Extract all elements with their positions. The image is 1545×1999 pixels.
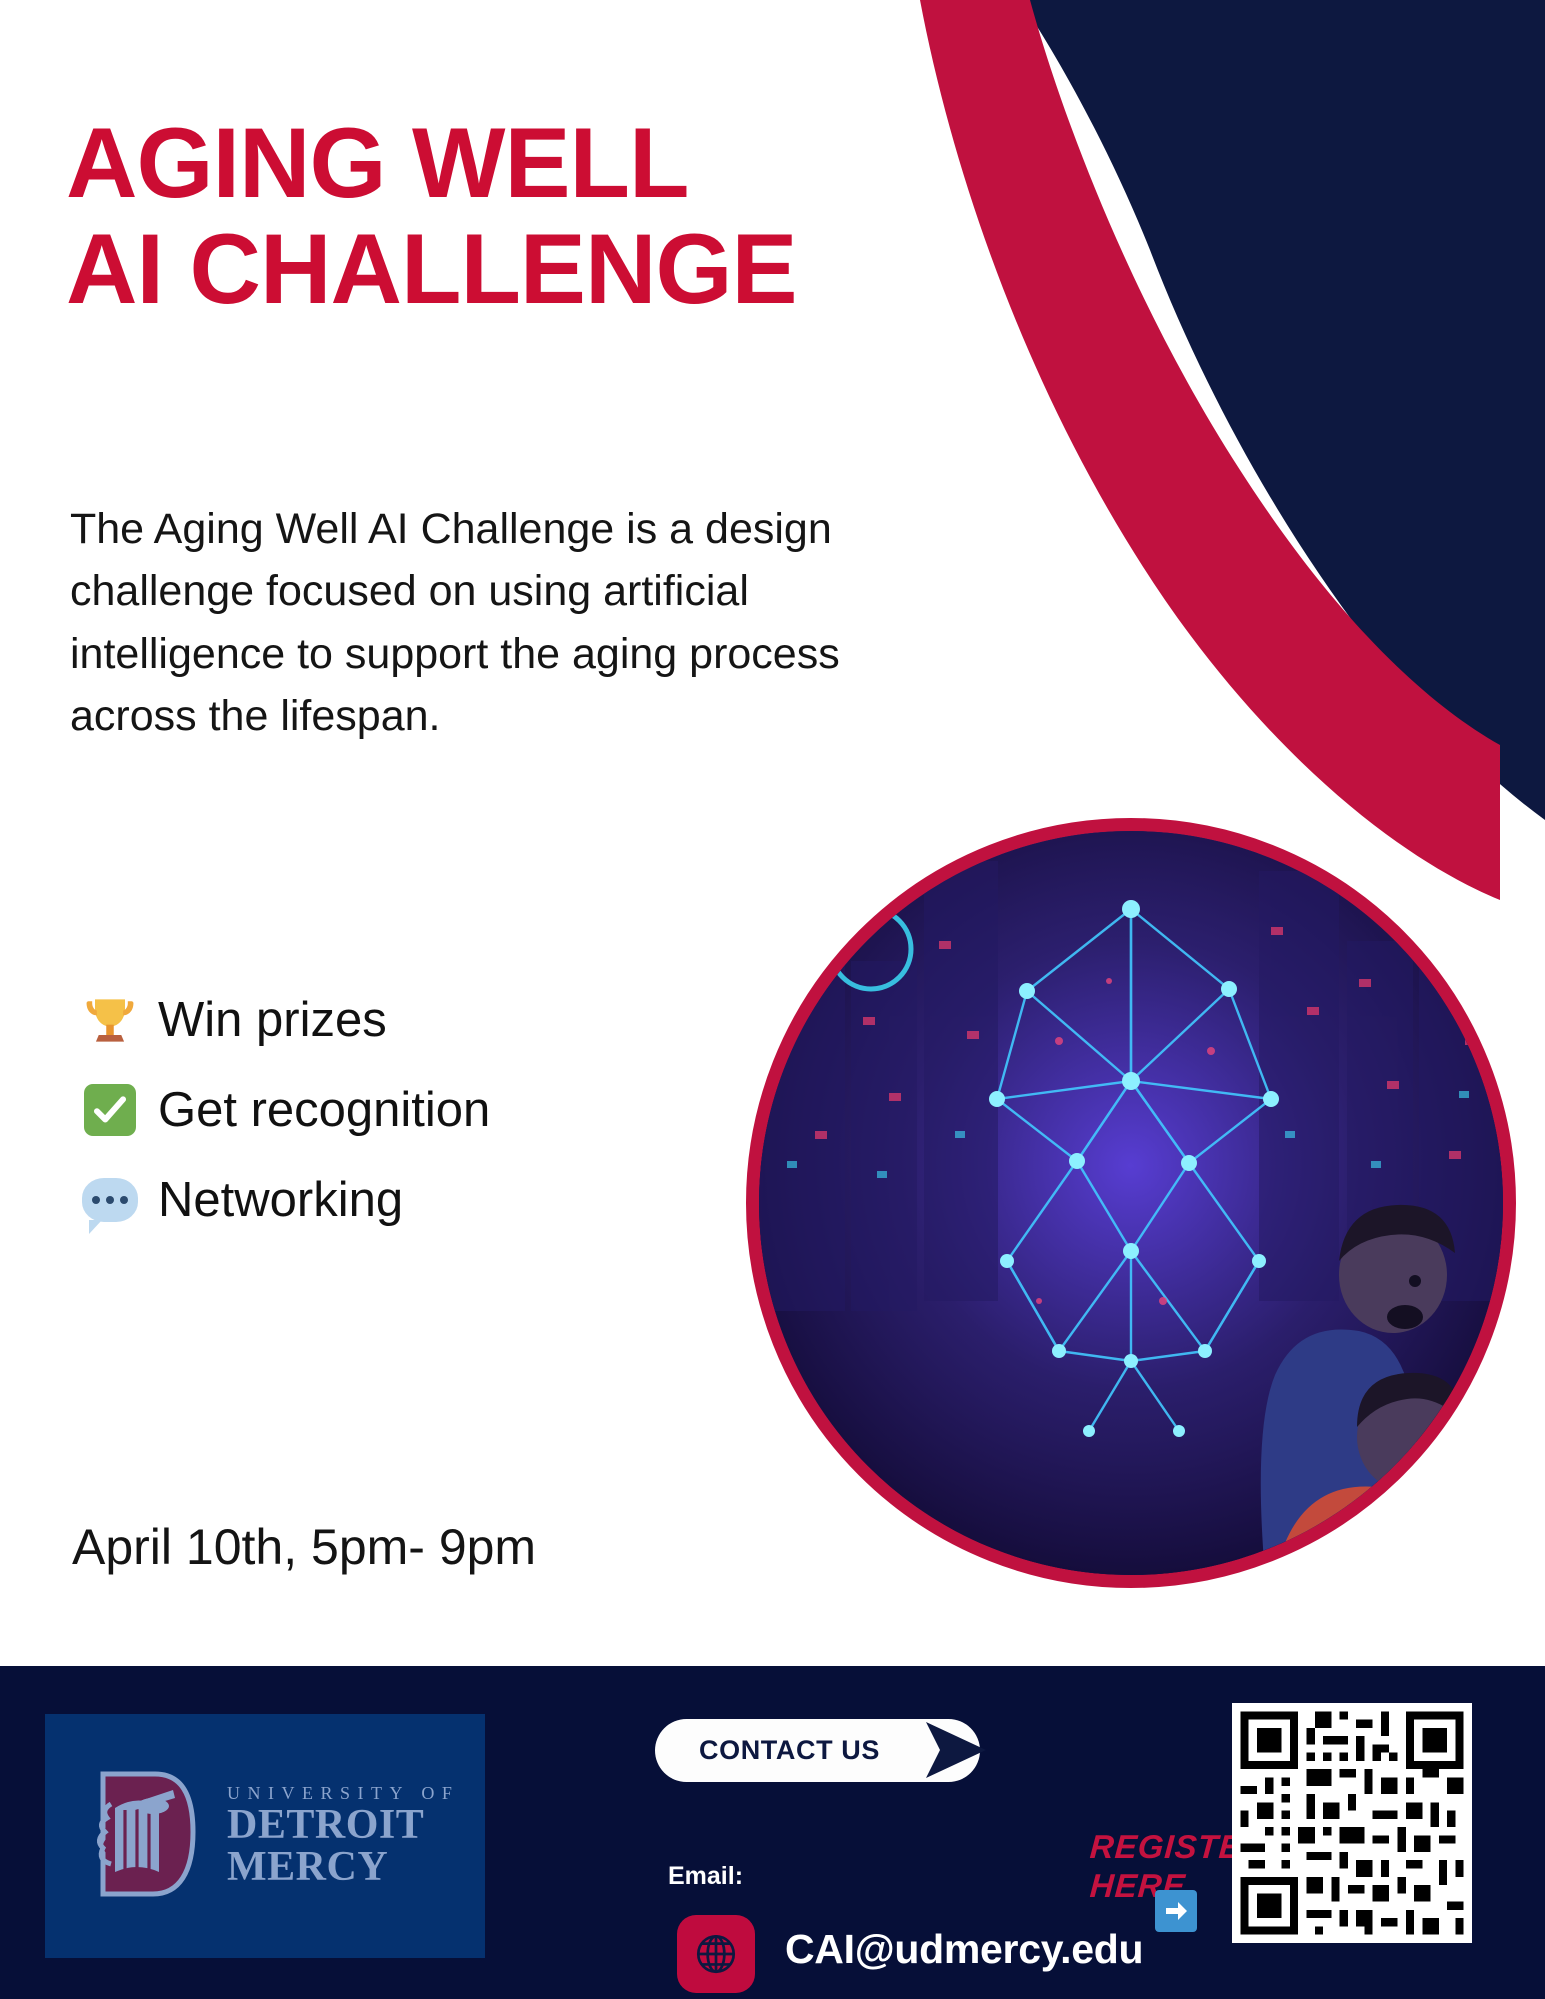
email-address[interactable]: CAI@udmercy.edu [785, 1926, 1143, 1973]
speech-balloon-icon [76, 1166, 144, 1234]
trophy-icon [76, 986, 144, 1054]
list-item-label: Win prizes [158, 996, 387, 1045]
list-item: Win prizes [76, 975, 736, 1065]
globe-icon[interactable] [677, 1915, 755, 1993]
detroit-mercy-logo: UNIVERSITY OF DETROIT MERCY [45, 1714, 485, 1958]
crimson-swoosh-shape [920, 0, 1500, 900]
ai-network-seniors-illustration [746, 818, 1516, 1588]
detroit-mercy-d-shield-icon [89, 1764, 207, 1909]
email-label: Email: [668, 1862, 743, 1891]
page-title: AGING WELL AI CHALLENGE [66, 110, 906, 322]
logo-line-university: UNIVERSITY OF [227, 1784, 459, 1804]
navy-wedge-shape [1020, 0, 1545, 820]
headline-line-2: AI CHALLENGE [66, 216, 906, 322]
description-text: The Aging Well AI Challenge is a design … [70, 498, 870, 747]
play-arrow-icon[interactable] [920, 1716, 992, 1789]
list-item: Get recognition [76, 1065, 736, 1155]
headline-line-1: AGING WELL [66, 110, 906, 216]
list-item: Networking [76, 1155, 736, 1245]
event-datetime: April 10th, 5pm- 9pm [72, 1518, 536, 1576]
arrow-right-icon[interactable] [1155, 1890, 1197, 1932]
perks-list: Win prizes Get recognition Networking [76, 975, 736, 1245]
logo-line-mercy: MERCY [227, 1846, 459, 1888]
list-item-label: Networking [158, 1176, 403, 1225]
register-line-1: REGISTER [1089, 1828, 1232, 1867]
contact-us-label: CONTACT US [699, 1735, 880, 1766]
registration-qr-code[interactable] [1232, 1703, 1472, 1943]
list-item-label: Get recognition [158, 1086, 490, 1135]
logo-line-detroit: DETROIT [227, 1804, 459, 1846]
check-mark-button-icon [76, 1076, 144, 1144]
